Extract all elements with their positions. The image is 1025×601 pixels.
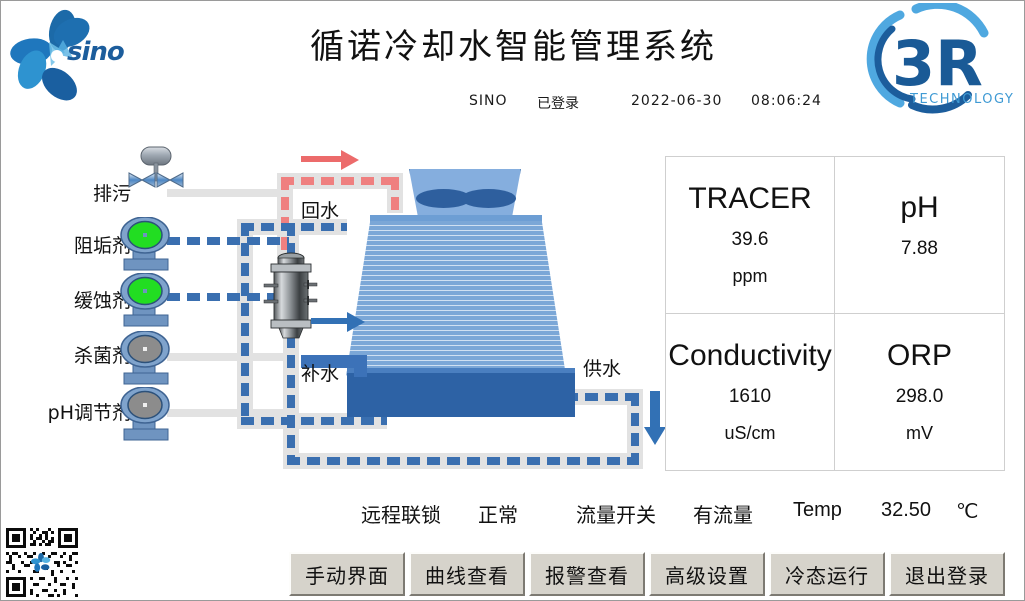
qr-code [3,525,83,601]
advanced-settings-button[interactable]: 高级设置 [649,552,765,596]
cold-start-run-button[interactable]: 冷态运行 [769,552,885,596]
flow-switch-label: 流量开关 [576,499,656,528]
metric-card-conductivity: Conductivity 1610 uS/cm [666,314,835,471]
blowdown-valve-icon[interactable] [123,143,203,204]
remote-interlock-label: 远程联锁 [361,499,441,528]
device-label-inhibitor: 缓蚀剂 [11,286,131,313]
pump-ph-adjuster[interactable] [119,387,181,448]
pipe-loop-bottom [287,457,639,465]
pump-antiscalant[interactable] [119,217,181,278]
header-username: SINO [469,93,508,109]
pump-biocide[interactable] [119,331,181,392]
pipe-biocide-line [167,353,287,361]
pipe-analyzer-outlet [287,335,295,459]
metric-card-ph: pH 7.88 [835,157,1004,314]
device-label-blowdown: 排污 [11,179,131,206]
temperature-unit: ℃ [956,499,978,524]
metric-unit: mV [906,424,933,442]
metric-name: ORP [887,341,952,371]
metric-unit: ppm [732,267,767,285]
metric-value: 1610 [729,387,771,406]
device-label-ph-adjuster: pH调节剂 [1,398,131,425]
metric-card-orp: ORP 298.0 mV [835,314,1004,471]
metric-name: Conductivity [668,341,831,371]
pipe-supply-down [631,393,639,459]
metric-name: pH [900,193,938,223]
pipe-return-tower [391,177,399,213]
metric-value: 298.0 [896,387,944,406]
pipe-supply [565,393,637,401]
return-flow-arrow-icon [301,149,361,176]
metric-name: TRACER [688,184,811,214]
supply-flow-arrow-icon [643,391,667,452]
makeup-flow-arrow-icon [311,311,367,338]
device-label-antiscalant: 阻垢剂 [11,231,131,258]
temperature-value: 32.50 [881,499,931,522]
metric-unit: uS/cm [724,424,775,442]
header-date: 2022-06-30 [631,93,722,109]
cooling-tower-basin [347,373,575,417]
application-window: sino 循诺冷却水智能管理系统 SINO 已登录 2022-06-30 08:… [0,0,1025,601]
trend-curve-button[interactable]: 曲线查看 [409,552,525,596]
fan-blade-right [461,189,516,208]
device-label-biocide: 杀菌剂 [11,341,131,368]
logout-button[interactable]: 退出登录 [889,552,1005,596]
temperature-label: Temp [793,499,842,522]
header-time: 08:06:24 [751,93,822,109]
label-return-water: 回水 [301,196,339,223]
pipe-antiscalant-dose [167,237,289,245]
3r-technology-logo: 3R TECHNOLOGY [856,3,1016,115]
svg-text:3R: 3R [892,27,983,100]
manual-interface-button[interactable]: 手动界面 [289,552,405,596]
metric-value: 39.6 [732,230,769,249]
pipe-loop-lower-left [241,417,387,425]
flow-switch-value: 有流量 [693,499,753,528]
pipe-ph-line [167,409,287,417]
header-login-status: 已登录 [537,93,579,113]
alarm-view-button[interactable]: 报警查看 [529,552,645,596]
bottom-button-bar: 手动界面 曲线查看 报警查看 高级设置 冷态运行 退出登录 [289,552,1005,596]
pipe-loop-left [241,223,249,425]
pipe-return-top [281,177,398,185]
metric-value: 7.88 [901,239,938,258]
label-makeup-water: 补水 [301,359,339,386]
metric-card-tracer: TRACER 39.6 ppm [666,157,835,314]
makeup-water-pipe-vertical [354,355,367,377]
pump-inhibitor[interactable] [119,273,181,334]
measurements-panel: TRACER 39.6 ppm pH 7.88 Conductivity 161… [665,156,1005,471]
cooling-tower-body [346,221,566,376]
3r-logo-subtext: TECHNOLOGY [909,92,1014,107]
label-supply-water: 供水 [583,354,621,381]
remote-interlock-value: 正常 [478,499,518,528]
